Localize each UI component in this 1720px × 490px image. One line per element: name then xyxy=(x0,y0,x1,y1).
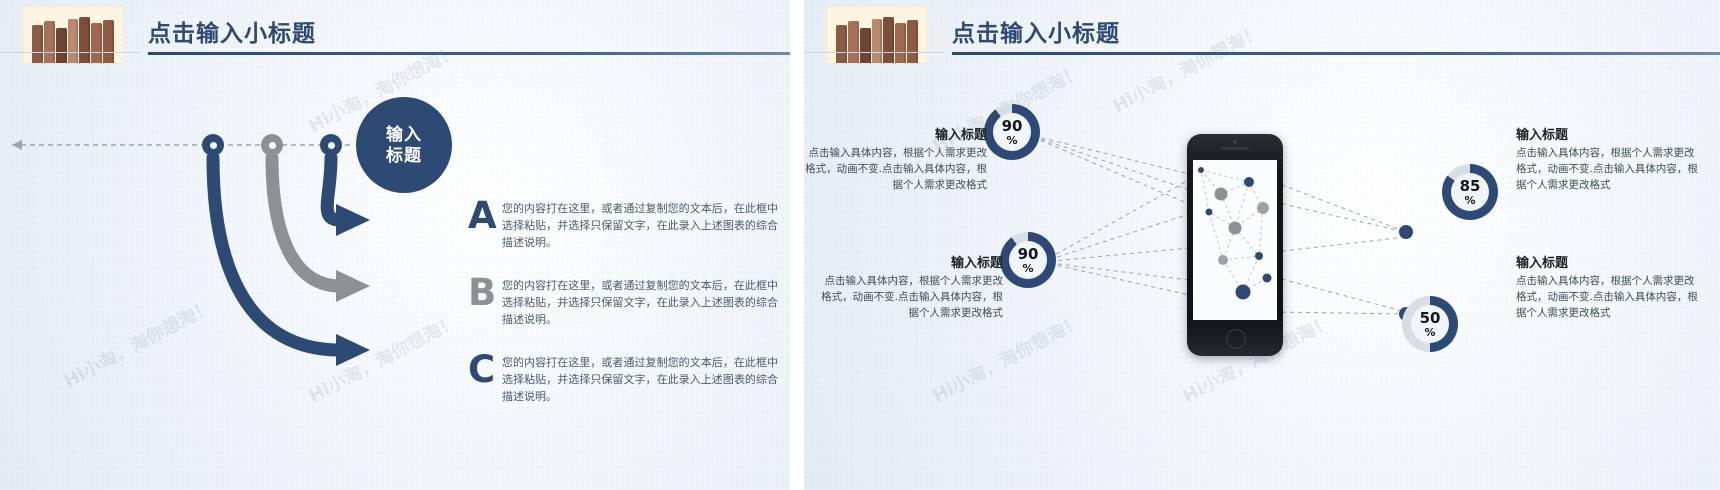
gauge-value: 85 xyxy=(1460,179,1481,194)
screen-node xyxy=(1229,222,1242,235)
block-bottom-left: 输入标题 点击输入具体内容，根据个人需求更改格式，动画不变.点击输入具体内容，根… xyxy=(818,252,1003,321)
smartphone-illustration xyxy=(1186,134,1286,360)
block-body: 点击输入具体内容，根据个人需求更改格式，动画不变.点击输入具体内容，根据个人需求… xyxy=(804,146,987,193)
speaker-icon xyxy=(1221,147,1249,150)
header-underline xyxy=(952,52,1720,55)
block-title: 输入标题 xyxy=(804,124,987,143)
slide-right: Hi小淘，淘你想淘！ Hi小淘，淘你想淘！ Hi小淘，淘你想淘！ Hi小淘，淘你… xyxy=(804,0,1720,490)
slide-separator xyxy=(790,0,804,490)
screen-node xyxy=(1215,188,1228,201)
gauge-hole: 85 % xyxy=(1451,173,1489,211)
curve-arrow-a-head xyxy=(336,334,370,366)
block-top-right: 输入标题 点击输入具体内容，根据个人需求更改格式，动画不变.点击输入具体内容，根… xyxy=(1516,124,1701,193)
gauge-hole: 90 % xyxy=(993,113,1031,151)
network-node xyxy=(1399,225,1413,239)
header-underline xyxy=(148,52,790,55)
slides-canvas: Hi小淘，淘你想淘！ Hi小淘，淘你想淘！ Hi小淘，淘你想淘！ 点击输入小标题 xyxy=(0,0,1720,490)
center-title-circle[interactable]: 输入 标题 xyxy=(356,97,452,193)
block-body: 点击输入具体内容，根据个人需求更改格式，动画不变.点击输入具体内容，根据个人需求… xyxy=(818,274,1003,321)
gauge-value: 90 xyxy=(1018,247,1039,262)
list-item: B 您的内容打在这里，或者通过复制您的文本后，在此框中选择粘贴，并选择只保留文字… xyxy=(468,277,778,328)
node-dot xyxy=(210,142,217,149)
center-title-line1: 输入 xyxy=(386,124,422,145)
block-bottom-right: 输入标题 点击输入具体内容，根据个人需求更改格式，动画不变.点击输入具体内容，根… xyxy=(1516,252,1701,321)
block-body: 点击输入具体内容，根据个人需求更改格式，动画不变.点击输入具体内容，根据个人需求… xyxy=(1516,146,1701,193)
screen-node xyxy=(1263,274,1272,283)
link xyxy=(1026,134,1189,204)
link xyxy=(1026,134,1189,174)
list-item: A 您的内容打在这里，或者通过复制您的文本后，在此框中选择粘贴，并选择只保留文字… xyxy=(468,200,778,251)
item-body-a: 您的内容打在这里，或者通过复制您的文本后，在此框中选择粘贴，并选择只保留文字，在… xyxy=(502,200,778,251)
gauge-top-left: 90 % xyxy=(984,104,1040,160)
screen-node xyxy=(1206,209,1213,216)
screen-node xyxy=(1218,255,1228,265)
gauge-value: 90 xyxy=(1002,119,1023,134)
header-right: 点击输入小标题 xyxy=(804,0,1720,62)
curve-arrow-b-head xyxy=(336,270,370,302)
center-title-line2: 标题 xyxy=(386,145,422,166)
page-title: 点击输入小标题 xyxy=(148,14,316,48)
header-left: 点击输入小标题 xyxy=(0,0,790,62)
link xyxy=(1274,237,1406,252)
gauge-hole: 90 % xyxy=(1009,241,1047,279)
link xyxy=(1274,182,1406,232)
link xyxy=(1274,202,1406,232)
gauge-unit: % xyxy=(1424,327,1435,338)
gauge-bottom-right: 50 % xyxy=(1402,296,1458,352)
books-icon xyxy=(826,6,928,64)
screen-node xyxy=(1244,177,1254,187)
page-title: 点击输入小标题 xyxy=(952,14,1120,48)
gauge-hole: 50 % xyxy=(1411,305,1449,343)
screen-network-svg xyxy=(1193,160,1277,320)
item-letter-b: B xyxy=(468,277,502,309)
block-title: 输入标题 xyxy=(1516,252,1701,271)
network-infographic: 90 % 90 % 85 % 50 % xyxy=(804,62,1720,490)
block-top-left: 输入标题 点击输入具体内容，根据个人需求更改格式，动画不变.点击输入具体内容，根… xyxy=(804,124,987,193)
screen-node xyxy=(1255,252,1263,260)
header-divider-left xyxy=(804,52,944,53)
item-body-c: 您的内容打在这里，或者通过复制您的文本后，在此框中选择粘贴，并选择只保留文字，在… xyxy=(502,354,778,405)
screen-node xyxy=(1257,202,1269,214)
block-body: 点击输入具体内容，根据个人需求更改格式，动画不变.点击输入具体内容，根据个人需求… xyxy=(1516,274,1701,321)
curved-arrow-diagram: 输入 标题 xyxy=(0,62,470,490)
block-title: 输入标题 xyxy=(1516,124,1701,143)
gauge-unit: % xyxy=(1022,263,1033,274)
camera-icon xyxy=(1233,140,1237,144)
gauge-top-right: 85 % xyxy=(1442,164,1498,220)
link xyxy=(1274,277,1406,312)
screen-node xyxy=(1198,167,1204,173)
header-divider-left xyxy=(0,52,140,53)
gauge-bottom-left: 90 % xyxy=(1000,232,1056,288)
node-dot xyxy=(269,142,276,149)
home-button[interactable] xyxy=(1226,329,1246,349)
link xyxy=(1274,312,1406,314)
link xyxy=(1042,262,1189,280)
link xyxy=(1026,134,1189,190)
curve-arrow-c-head xyxy=(336,204,370,236)
node-b[interactable] xyxy=(261,134,283,156)
left-arrowhead-icon xyxy=(12,140,22,150)
books-icon xyxy=(22,6,124,64)
abc-list: A 您的内容打在这里，或者通过复制您的文本后，在此框中选择粘贴，并选择只保留文字… xyxy=(468,200,778,431)
block-title: 输入标题 xyxy=(818,252,1003,271)
phone-screen xyxy=(1193,160,1277,320)
screen-node xyxy=(1236,285,1251,300)
slide-left: Hi小淘，淘你想淘！ Hi小淘，淘你想淘！ Hi小淘，淘你想淘！ 点击输入小标题 xyxy=(0,0,790,490)
item-body-b: 您的内容打在这里，或者通过复制您的文本后，在此框中选择粘贴，并选择只保留文字，在… xyxy=(502,277,778,328)
node-dot xyxy=(328,142,335,149)
node-c[interactable] xyxy=(320,134,342,156)
item-letter-a: A xyxy=(468,200,502,232)
gauge-value: 50 xyxy=(1420,311,1441,326)
item-letter-c: C xyxy=(468,354,502,386)
gauge-unit: % xyxy=(1006,135,1017,146)
list-item: C 您的内容打在这里，或者通过复制您的文本后，在此框中选择粘贴，并选择只保留文字… xyxy=(468,354,778,405)
gauge-unit: % xyxy=(1464,195,1475,206)
node-a[interactable] xyxy=(202,134,224,156)
